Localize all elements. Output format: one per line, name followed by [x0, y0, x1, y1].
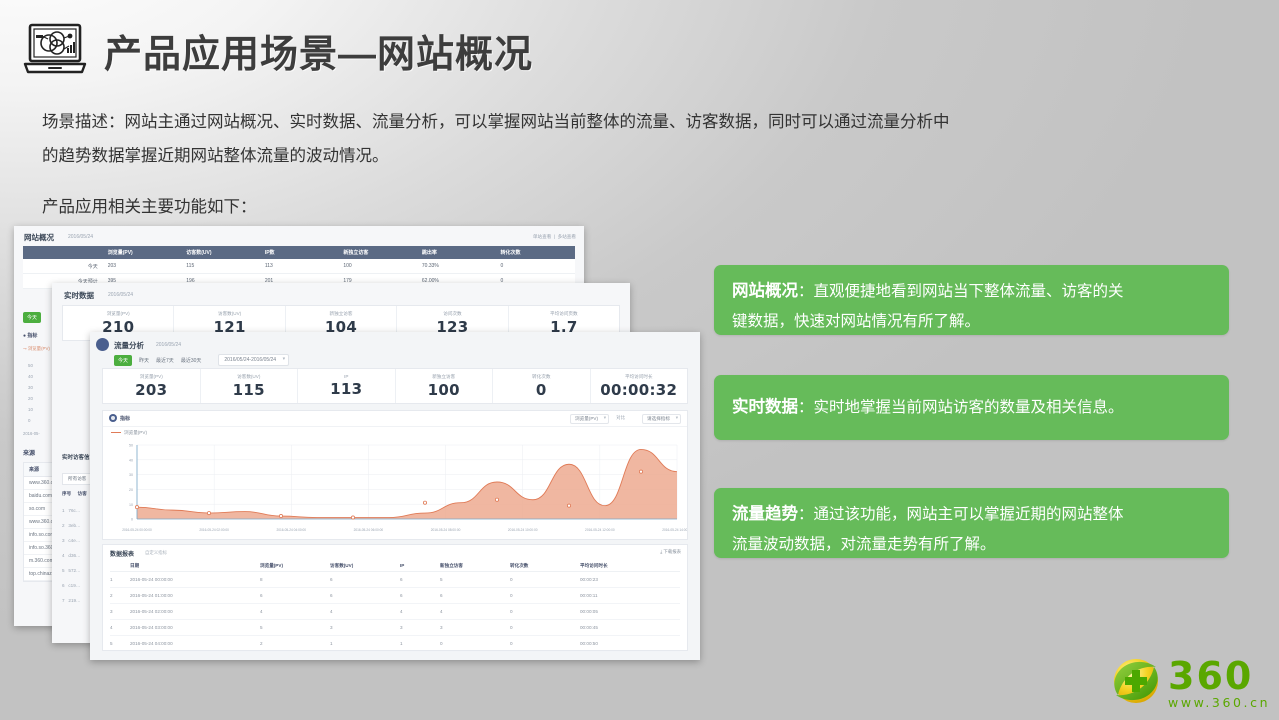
cell-duration: 00:00:50: [580, 641, 680, 646]
overview-table-header: 浏览量(PV) 访客数(UV) IP数 新独立访客 跳出率 转化次数: [23, 246, 575, 259]
table-row: 1 2016-05-24 00:00:00 8 6 6 5 0 00:00:23: [110, 572, 680, 588]
stat-label: 新独立访客: [330, 311, 353, 317]
svg-text:2016-05-24 10:00:00: 2016-05-24 10:00:00: [508, 528, 538, 532]
cell-uv: 6: [330, 593, 400, 598]
overview-metric-icon-label: ● 指标: [23, 332, 37, 339]
stat-label: 访问次数: [443, 311, 461, 317]
legend-line-icon: [111, 432, 121, 433]
stat-value: 203: [135, 381, 167, 399]
svg-text:2016-05-24 00:00:00: 2016-05-24 00:00:00: [122, 528, 152, 532]
cell-date: 2016-05-24 04:00:00: [130, 641, 260, 646]
stat-label: 平均访问时长: [625, 374, 653, 380]
stat-card: 浏览量(PV) 203: [103, 369, 201, 403]
callout-realtime-data: 实时数据：实时地掌握当前网站访客的数量及相关信息。: [714, 375, 1229, 440]
col-duration: 平均访问时长: [580, 563, 680, 569]
visitor-filter[interactable]: 所有访客: [62, 473, 92, 485]
link-multi-site[interactable]: 多站查看: [558, 234, 576, 239]
col-conversion: 转化次数: [510, 563, 580, 569]
cell-new-visitor: 100: [339, 263, 418, 269]
callout-title: 实时数据: [732, 398, 798, 416]
cell-new-visitor: 5: [440, 577, 510, 582]
svg-text:2016-05-24 06:00:00: 2016-05-24 06:00:00: [354, 528, 384, 532]
cell-pv: 5: [260, 625, 330, 630]
stat-value: 100: [428, 381, 460, 399]
table-row: 2 2016-05-24 01:00:00 6 6 6 6 0 00:00:11: [110, 588, 680, 604]
compass-icon: [96, 338, 109, 351]
svg-text:30: 30: [129, 473, 133, 477]
scenario-description-line2: 的趋势数据掌握近期网站整体流量的波动情况。: [42, 139, 950, 173]
cell-no: 2: [110, 593, 130, 598]
cell-bounce: 70.33%: [418, 263, 497, 269]
traffic-stats-row: 浏览量(PV) 203 访客数(UV) 115 IP 113 新独立访客 100…: [102, 368, 688, 404]
cell-ip: 6: [400, 593, 440, 598]
cell-uv: 4: [330, 609, 400, 614]
cell-pv: 6: [260, 593, 330, 598]
callout-text-line2: 流量波动数据，对流量走势有所了解。: [732, 536, 996, 553]
cell-date: 2016-05-24 00:00:00: [130, 577, 260, 582]
cell-conversion: 0: [510, 625, 580, 630]
tab-today[interactable]: 今天: [114, 355, 132, 366]
visitor-rows: 1 76c…2 3eb…3 c4e…4 d36…5 572…6 c19…7 21…: [62, 503, 81, 608]
cell-date: 2016-05-24 01:00:00: [130, 593, 260, 598]
col-uv: 访客数(UV): [182, 249, 261, 256]
overview-panel-links[interactable]: 单站查看 | 多站查看: [533, 234, 576, 240]
stat-value: 0: [536, 381, 547, 399]
callout-text-line2: 键数据，快速对网站情况有所了解。: [732, 313, 980, 330]
cell-new-visitor: 0: [440, 641, 510, 646]
metric-select[interactable]: 浏览量(PV): [570, 414, 609, 424]
svg-text:2016-05-24 04:00:00: 2016-05-24 04:00:00: [276, 528, 306, 532]
overview-panel-title: 网站概况: [24, 232, 54, 243]
overview-legend: ⊸ 浏览量(PV): [23, 346, 50, 352]
col-pv: 浏览量(PV): [104, 249, 183, 256]
cell-conversion: 0: [510, 577, 580, 582]
overview-panel-date: 2016/05/24: [68, 234, 93, 240]
table-row: 3 2016-05-24 02:00:00 4 4 4 4 0 00:00:05: [110, 604, 680, 620]
cell-pv: 8: [260, 577, 330, 582]
col-bounce: 跳出率: [418, 249, 497, 256]
callout-site-overview: 网站概况：直观便捷地看到网站当下整体流量、访客的关 键数据，快速对网站情况有所了…: [714, 265, 1229, 335]
row-label: 今天: [23, 263, 104, 270]
screenshot-traffic-analysis: 流量分析 2016/05/24 今天 昨天 最近7天 最近30天 2016/05…: [90, 332, 700, 660]
cell-conversion: 0: [510, 593, 580, 598]
callout-text-line1: 直观便捷地看到网站当下整体流量、访客的关: [814, 283, 1124, 300]
cell-pv: 203: [104, 263, 183, 269]
cell-no: 3: [110, 609, 130, 614]
table-row: 今天 203 115 113 100 70.33% 0: [23, 259, 575, 274]
scenario-description: 场景描述：网站主通过网站概况、实时数据、流量分析，可以掌握网站当前整体的流量、访…: [42, 105, 950, 173]
cell-duration: 00:00:05: [580, 609, 680, 614]
cell-uv: 3: [330, 625, 400, 630]
traffic-chart-card: 指标 浏览量(PV) 对比 请选择指标 浏览量(PV) 010203040502…: [102, 410, 688, 540]
traffic-tab-bar[interactable]: 今天 昨天 最近7天 最近30天 2016/05/24-2016/05/24: [114, 354, 289, 366]
svg-text:40: 40: [129, 458, 133, 462]
stat-card: 转化次数 0: [493, 369, 591, 403]
stat-label: 转化次数: [532, 374, 550, 380]
compare-select[interactable]: 请选择指标: [642, 414, 681, 424]
visitor-table-header: 序号 访客: [62, 491, 87, 497]
table-row: 4 2016-05-24 03:00:00 5 3 3 3 0 00:00:45: [110, 620, 680, 636]
cell-duration: 00:00:45: [580, 625, 680, 630]
cell-no: 5: [110, 641, 130, 646]
logo-url: www.360.cn: [1168, 697, 1270, 710]
360-ball-icon: [1110, 655, 1162, 712]
stat-label: 新独立访客: [432, 374, 455, 380]
stat-label: 浏览量(PV): [107, 311, 130, 317]
stat-label: 访客数(UV): [237, 374, 260, 380]
cell-date: 2016-05-24 02:00:00: [130, 609, 260, 614]
chart-legend: 浏览量(PV): [111, 430, 147, 436]
traffic-panel-title: 流量分析: [114, 340, 144, 351]
svg-text:20: 20: [129, 488, 133, 492]
cell-pv: 2: [260, 641, 330, 646]
svg-text:0: 0: [131, 518, 133, 522]
traffic-panel-date: 2016/05/24: [156, 342, 181, 348]
laptop-analytics-icon: [20, 22, 90, 78]
scenario-description-line1: 场景描述：网站主通过网站概况、实时数据、流量分析，可以掌握网站当前整体的流量、访…: [42, 113, 950, 131]
brand-logo: 360 www.360.cn: [1110, 655, 1270, 712]
cell-duration: 00:00:23: [580, 577, 680, 582]
callout-separator: ：: [798, 399, 814, 416]
col-conversion: 转化次数: [496, 249, 575, 256]
cell-conversion: 0: [510, 609, 580, 614]
stat-card: IP 113: [298, 369, 396, 403]
stat-card: 新独立访客 100: [396, 369, 494, 403]
stat-card: 访客数(UV) 115: [201, 369, 299, 403]
overview-tab-today[interactable]: 今天: [23, 312, 41, 323]
stat-value: 115: [233, 381, 265, 399]
cell-uv: 6: [330, 577, 400, 582]
data-table-subtitle[interactable]: 自定义指标: [145, 550, 167, 556]
col-visitor: 访客: [78, 491, 87, 496]
pv-area-chart: 010203040502016-05-24 00:00:002016-05-24…: [103, 439, 687, 537]
cell-ip: 1: [400, 641, 440, 646]
cell-uv: 115: [182, 263, 261, 269]
page-title: 产品应用场景—网站概况: [104, 23, 533, 78]
slide-root: 产品应用场景—网站概况 场景描述：网站主通过网站概况、实时数据、流量分析，可以掌…: [0, 0, 1279, 720]
callout-title: 流量趋势: [732, 505, 798, 523]
col-new-visitor: 新独立访客: [440, 563, 510, 569]
chart-card-header: 指标 浏览量(PV) 对比 请选择指标: [103, 411, 687, 427]
callout-text-line1: 通过该功能，网站主可以掌握近期的网站整体: [814, 506, 1124, 523]
svg-text:10: 10: [129, 503, 133, 507]
slide-header: 产品应用场景—网站概况: [20, 22, 533, 78]
link-single-site[interactable]: 单站查看: [533, 234, 551, 239]
svg-text:2016-05-24 08:00:00: 2016-05-24 08:00:00: [431, 528, 461, 532]
logo-text: 360 www.360.cn: [1168, 657, 1270, 710]
col-date: 日期: [130, 563, 260, 569]
cell-date: 2016-05-24 03:00:00: [130, 625, 260, 630]
svg-text:2016-05-24 02:00:00: 2016-05-24 02:00:00: [199, 528, 229, 532]
stat-value: 00:00:32: [600, 381, 677, 399]
chart-card-title: 指标: [120, 415, 130, 422]
stat-label: 访客数(UV): [218, 311, 241, 317]
cell-ip: 113: [261, 263, 340, 269]
stat-card: 平均访问时长 00:00:32: [591, 369, 688, 403]
stat-label: 浏览量(PV): [140, 374, 163, 380]
col-index: 序号: [62, 491, 71, 496]
source-panel-title: 来源: [23, 448, 35, 457]
cell-new-visitor: 6: [440, 593, 510, 598]
legend-label: 浏览量(PV): [124, 430, 147, 435]
table-row: 5 2016-05-24 04:00:00 2 1 1 0 0 00:00:50: [110, 636, 680, 652]
cell-conversion: 0: [510, 641, 580, 646]
cell-new-visitor: 4: [440, 609, 510, 614]
compass-icon: [109, 414, 117, 422]
svg-text:50: 50: [129, 444, 133, 448]
logo-name: 360: [1168, 657, 1270, 695]
cell-ip: 3: [400, 625, 440, 630]
compare-label: 对比: [616, 415, 625, 421]
date-range-picker[interactable]: 2016/05/24-2016/05/24: [218, 354, 289, 366]
callout-separator: ：: [798, 506, 814, 523]
cell-new-visitor: 3: [440, 625, 510, 630]
download-report-button[interactable]: ⤓ 下载报表: [660, 549, 681, 555]
svg-text:2016-05-24 12:00:00: 2016-05-24 12:00:00: [585, 528, 615, 532]
col-pv: 浏览量(PV): [260, 563, 330, 569]
overview-x-axis-label: 2016-05-: [23, 431, 40, 436]
callout-separator: ：: [798, 283, 814, 300]
col-uv: 访客数(UV): [330, 563, 400, 569]
cell-ip: 4: [400, 609, 440, 614]
features-intro: 产品应用相关主要功能如下：: [42, 190, 257, 224]
cell-pv: 4: [260, 609, 330, 614]
overview-y-axis: 50403020100: [28, 360, 33, 426]
col-ip: IP: [400, 563, 440, 568]
callout-title: 网站概况: [732, 282, 798, 300]
data-table-header: 数据报表 自定义指标 ⤓ 下载报表: [103, 545, 687, 559]
download-label: 下载报表: [663, 549, 681, 554]
col-new-visitor: 新独立访客: [339, 249, 418, 256]
realtime-panel-title: 实时数据: [64, 290, 94, 301]
traffic-data-table-card: 数据报表 自定义指标 ⤓ 下载报表 日期 浏览量(PV) 访客数(UV) IP …: [102, 544, 688, 651]
stat-label: 平均访问页数: [550, 311, 578, 317]
cell-no: 1: [110, 577, 130, 582]
cell-uv: 1: [330, 641, 400, 646]
cell-conversion: 0: [496, 263, 575, 269]
tab-last7days[interactable]: 最近7天: [156, 357, 174, 364]
stat-label: IP: [344, 374, 348, 379]
cell-duration: 00:00:11: [580, 593, 680, 598]
data-table-column-row: 日期 浏览量(PV) 访客数(UV) IP 新独立访客 转化次数 平均访问时长: [110, 560, 680, 572]
col-ip: IP数: [261, 249, 340, 256]
tab-yesterday[interactable]: 昨天: [139, 357, 149, 364]
stat-value: 113: [330, 380, 362, 398]
callout-traffic-trend: 流量趋势：通过该功能，网站主可以掌握近期的网站整体 流量波动数据，对流量走势有所…: [714, 488, 1229, 558]
svg-text:2016-05-24 14:00:00: 2016-05-24 14:00:00: [662, 528, 687, 532]
data-table-title: 数据报表: [110, 549, 134, 558]
tab-last30days[interactable]: 最近30天: [181, 357, 202, 364]
callout-text-line1: 实时地掌握当前网站访客的数量及相关信息。: [814, 399, 1124, 416]
cell-no: 4: [110, 625, 130, 630]
realtime-panel-date: 2016/05/24: [108, 292, 133, 298]
cell-ip: 6: [400, 577, 440, 582]
data-table: 日期 浏览量(PV) 访客数(UV) IP 新独立访客 转化次数 平均访问时长 …: [110, 560, 680, 652]
